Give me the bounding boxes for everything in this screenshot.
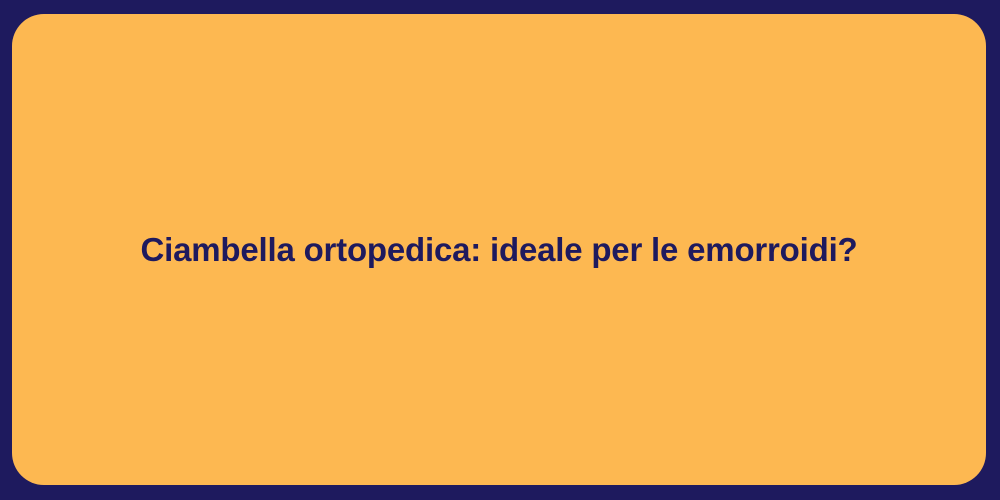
- page-title: Ciambella ortopedica: ideale per le emor…: [101, 229, 898, 270]
- content-card: Ciambella ortopedica: ideale per le emor…: [12, 14, 986, 485]
- page-frame: Ciambella ortopedica: ideale per le emor…: [0, 0, 1000, 500]
